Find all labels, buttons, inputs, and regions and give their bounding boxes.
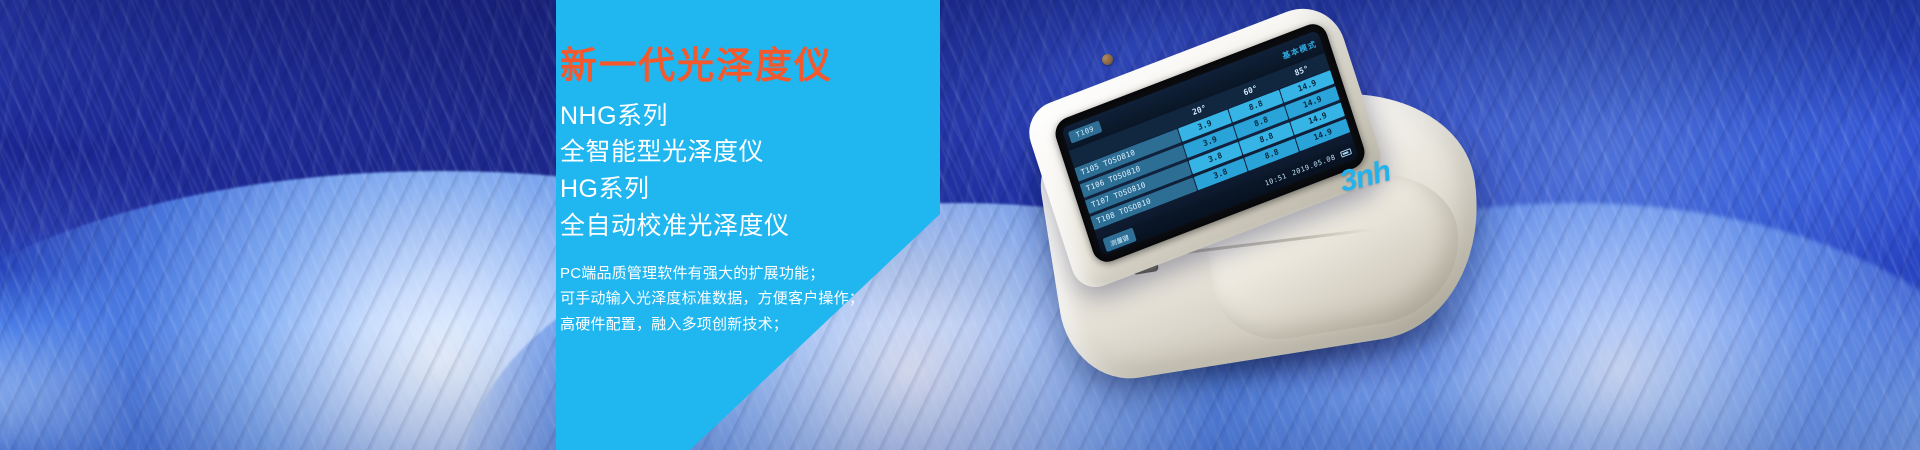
battery-icon xyxy=(1340,148,1352,158)
gloss-meter-device: T109 基本模式 20° 60° 85° T105 TOSO810 3.9 8… xyxy=(880,10,1520,410)
product-banner: 新一代光泽度仪 NHG系列 全智能型光泽度仪 HG系列 全自动校准光泽度仪 PC… xyxy=(0,0,1920,450)
screen-clock: 10:51 xyxy=(1264,172,1288,188)
power-button-icon[interactable] xyxy=(1100,52,1114,66)
